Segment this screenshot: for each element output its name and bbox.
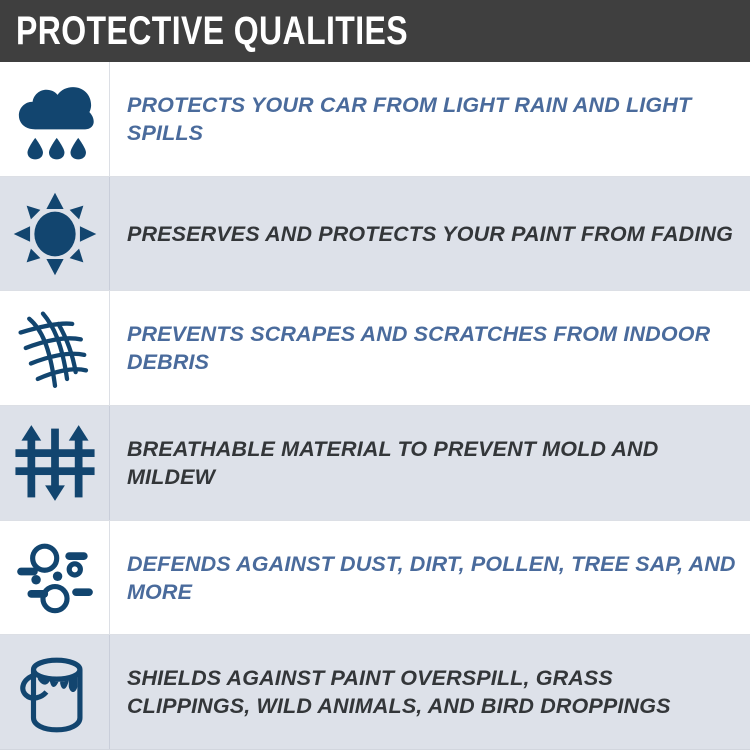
icon-cell — [0, 291, 110, 405]
text-cell: BREATHABLE MATERIAL TO PREVENT MOLD AND … — [110, 406, 750, 520]
icon-cell — [0, 62, 110, 176]
text-cell: PREVENTS SCRAPES AND SCRATCHES FROM INDO… — [110, 291, 750, 405]
text-cell: PROTECTS YOUR CAR FROM LIGHT RAIN AND LI… — [110, 62, 750, 176]
text-cell: SHIELDS AGAINST PAINT OVERSPILL, GRASS C… — [110, 635, 750, 749]
icon-cell — [0, 177, 110, 291]
paint-can-icon — [12, 649, 98, 735]
icon-cell — [0, 406, 110, 520]
protective-qualities-infographic: PROTECTIVE QUALITIES PRO — [0, 0, 750, 750]
feature-text: PRESERVES AND PROTECTS YOUR PAINT FROM F… — [127, 220, 733, 248]
breathable-airflow-icon — [12, 420, 98, 506]
text-cell: DEFENDS AGAINST DUST, DIRT, POLLEN, TREE… — [110, 521, 750, 635]
dust-particles-icon — [12, 535, 98, 621]
feature-text: DEFENDS AGAINST DUST, DIRT, POLLEN, TREE… — [127, 550, 736, 606]
sun-icon — [12, 191, 98, 277]
text-cell: PRESERVES AND PROTECTS YOUR PAINT FROM F… — [110, 177, 750, 291]
feature-text: BREATHABLE MATERIAL TO PREVENT MOLD AND … — [127, 435, 736, 491]
feature-row-paint: SHIELDS AGAINST PAINT OVERSPILL, GRASS C… — [0, 635, 750, 750]
feature-text: PREVENTS SCRAPES AND SCRATCHES FROM INDO… — [127, 320, 736, 376]
feature-row-scratches: PREVENTS SCRAPES AND SCRATCHES FROM INDO… — [0, 291, 750, 406]
feature-row-rain: PROTECTS YOUR CAR FROM LIGHT RAIN AND LI… — [0, 62, 750, 177]
icon-cell — [0, 635, 110, 749]
feature-row-breathable: BREATHABLE MATERIAL TO PREVENT MOLD AND … — [0, 406, 750, 521]
icon-cell — [0, 521, 110, 635]
feature-list: PROTECTS YOUR CAR FROM LIGHT RAIN AND LI… — [0, 62, 750, 750]
scratches-icon — [12, 305, 98, 391]
feature-text: PROTECTS YOUR CAR FROM LIGHT RAIN AND LI… — [127, 91, 736, 147]
feature-text: SHIELDS AGAINST PAINT OVERSPILL, GRASS C… — [127, 664, 736, 720]
page-title: PROTECTIVE QUALITIES — [16, 11, 408, 51]
header-bar: PROTECTIVE QUALITIES — [0, 0, 750, 62]
feature-row-sun: PRESERVES AND PROTECTS YOUR PAINT FROM F… — [0, 177, 750, 292]
rain-cloud-icon — [12, 76, 98, 162]
feature-row-dust: DEFENDS AGAINST DUST, DIRT, POLLEN, TREE… — [0, 521, 750, 636]
